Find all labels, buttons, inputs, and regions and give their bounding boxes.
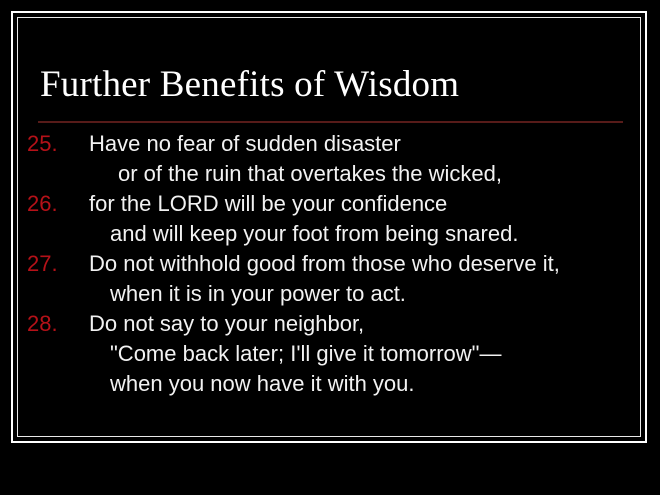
verse-number: 27. xyxy=(27,249,75,279)
verse-line: Do not say to your neighbor, xyxy=(17,309,641,339)
verse-line: when you now have it with you. xyxy=(17,369,641,399)
verse-line: and will keep your foot from being snare… xyxy=(17,219,641,249)
verse-line: for the LORD will be your confidence xyxy=(17,189,641,219)
verse-item: 28.Do not say to your neighbor,"Come bac… xyxy=(17,309,641,399)
verse-text: Do not withhold good from those who dese… xyxy=(17,249,641,309)
verse-line: when it is in your power to act. xyxy=(17,279,641,309)
verse-text: Have no fear of sudden disasteror of the… xyxy=(17,129,641,189)
verse-text: Do not say to your neighbor,"Come back l… xyxy=(17,309,641,399)
verse-text: for the LORD will be your confidenceand … xyxy=(17,189,641,249)
verse-line: Have no fear of sudden disaster xyxy=(17,129,641,159)
slide-content: Further Benefits of Wisdom 25.Have no fe… xyxy=(17,17,641,437)
title-divider-rule xyxy=(38,121,623,123)
verse-number: 26. xyxy=(27,189,75,219)
verse-item: 26.for the LORD will be your confidencea… xyxy=(17,189,641,249)
verse-line: "Come back later; I'll give it tomorrow"… xyxy=(17,339,641,369)
verse-item: 27.Do not withhold good from those who d… xyxy=(17,249,641,309)
verse-line: or of the ruin that overtakes the wicked… xyxy=(17,159,641,189)
presentation-slide: Further Benefits of Wisdom 25.Have no fe… xyxy=(0,0,660,495)
verse-list: 25.Have no fear of sudden disasteror of … xyxy=(17,129,641,399)
verse-number: 28. xyxy=(27,309,75,339)
verse-item: 25.Have no fear of sudden disasteror of … xyxy=(17,129,641,189)
slide-title: Further Benefits of Wisdom xyxy=(40,65,459,105)
verse-line: Do not withhold good from those who dese… xyxy=(17,249,641,279)
verse-number: 25. xyxy=(27,129,75,159)
